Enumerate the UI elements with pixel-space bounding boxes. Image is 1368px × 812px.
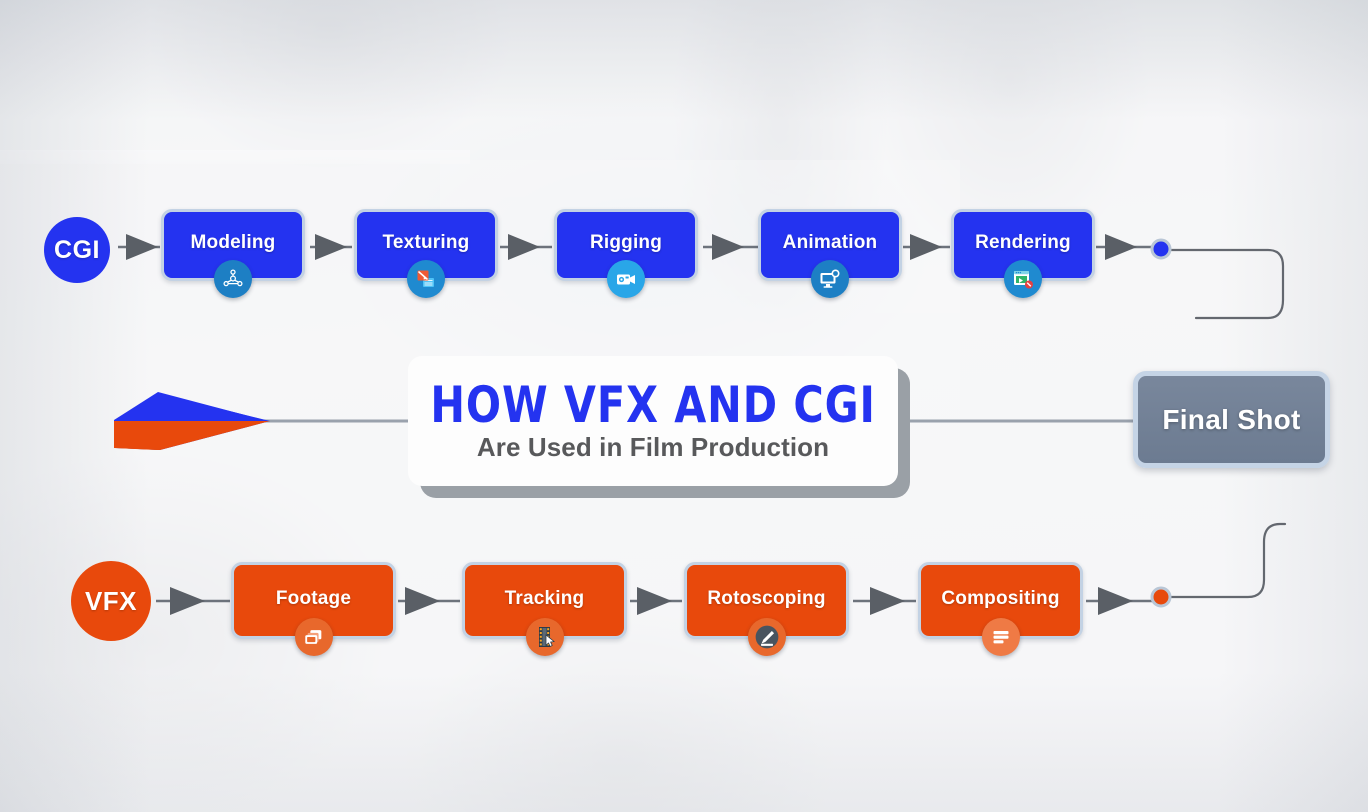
vfx-start-chip[interactable]: VFX [71,561,151,641]
cgi-step-rendering[interactable]: Rendering [951,209,1095,281]
cgi-step-label: Rendering [975,232,1071,258]
cgi-step-label: Animation [783,232,878,258]
vfx-step-compositing[interactable]: Compositing [918,562,1083,639]
page-subtitle: Are Used in Film Production [477,433,829,462]
cgi-step-modeling[interactable]: Modeling [161,209,305,281]
vfx-chip-label: VFX [85,586,137,617]
render-window-icon [1004,260,1042,298]
cgi-end-dot [1152,240,1170,258]
pen-trace-icon [748,618,786,656]
final-shot-node[interactable]: Final Shot [1133,371,1330,468]
title-card: HOW VFX AND CGI Are Used in Film Product… [408,356,898,486]
page-title: HOW VFX AND CGI [430,380,875,431]
cgi-step-label: Texturing [383,232,470,258]
vfx-step-label: Footage [276,588,351,614]
vfx-step-label: Rotoscoping [707,588,825,614]
vfx-step-rotoscoping[interactable]: Rotoscoping [684,562,849,639]
vfx-step-label: Compositing [941,588,1059,614]
cgi-step-label: Modeling [191,232,276,258]
cgi-step-animation[interactable]: Animation [758,209,902,281]
wireframe-mesh-icon [214,260,252,298]
cgi-step-rigging[interactable]: Rigging [554,209,698,281]
cgi-start-chip[interactable]: CGI [44,217,110,283]
vfx-step-tracking[interactable]: Tracking [462,562,627,639]
vfx-end-dot [1152,588,1170,606]
video-camera-icon [607,260,645,298]
film-cursor-icon [526,618,564,656]
cgi-step-label: Rigging [590,232,662,258]
vfx-step-footage[interactable]: Footage [231,562,396,639]
media-stack-icon [295,618,333,656]
texture-swatch-icon [407,260,445,298]
infographic-canvas: CGI Modeling Texturing [0,0,1368,812]
layers-stack-icon [982,618,1020,656]
dual-color-flag [112,390,272,454]
vfx-step-label: Tracking [505,588,585,614]
monitor-display-icon [811,260,849,298]
cgi-chip-label: CGI [54,236,100,265]
cgi-step-texturing[interactable]: Texturing [354,209,498,281]
final-shot-label: Final Shot [1162,404,1300,436]
